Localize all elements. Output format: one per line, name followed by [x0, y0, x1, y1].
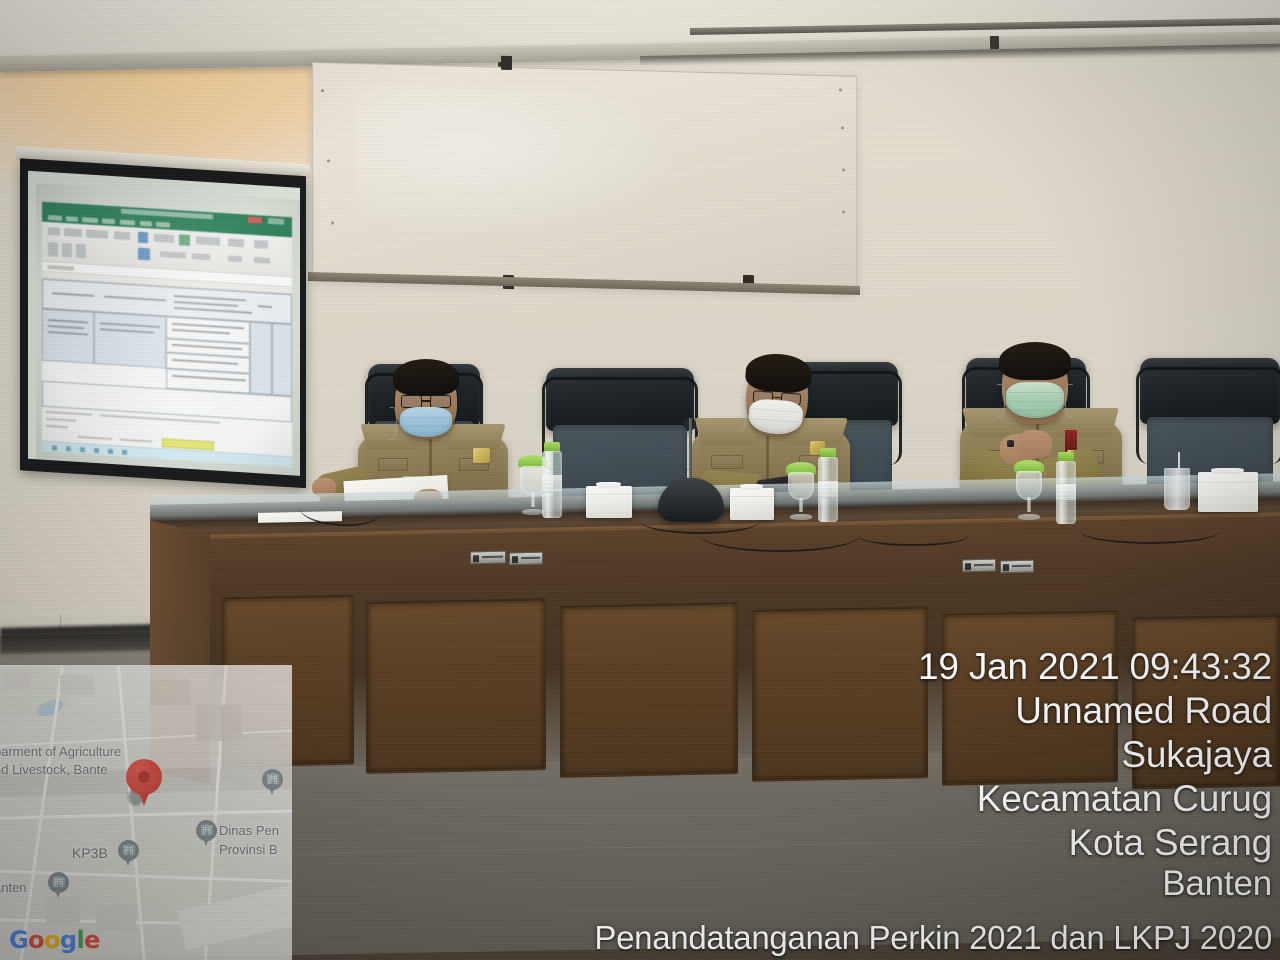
- whiteboard-screw: [321, 89, 324, 92]
- desk-nameplate: [509, 552, 543, 566]
- spreadsheet-window: [42, 202, 292, 468]
- whiteboard-screw: [327, 159, 330, 162]
- map-location-marker[interactable]: [126, 759, 162, 807]
- conference-microphone[interactable]: [658, 418, 724, 522]
- water-bottle: [1056, 452, 1076, 524]
- bank-icon: 🏢: [48, 872, 69, 899]
- whiteboard-screw: [842, 168, 845, 171]
- ring: [1007, 440, 1014, 447]
- map-overlay[interactable]: parment of Agriculture nd Livestock, Ban…: [0, 665, 292, 960]
- table-panel: [560, 602, 738, 778]
- person-left-head: [395, 365, 457, 439]
- whiteboard-clip: [501, 56, 512, 70]
- cable: [700, 518, 860, 552]
- map-block: [60, 675, 94, 695]
- mask-earloop: [1065, 384, 1073, 417]
- bank-icon: 🏢: [196, 820, 217, 847]
- map-block: [96, 905, 136, 931]
- projection-screen: [16, 146, 310, 494]
- mask-earloop: [997, 384, 1005, 417]
- gps-timestamp: 19 Jan 2021 09:43:32: [918, 648, 1272, 685]
- google-logo-letter: l: [76, 926, 84, 954]
- gps-address-line-2: Sukajaya: [1121, 736, 1272, 773]
- google-logo-letter: g: [60, 926, 77, 954]
- map-block: [46, 897, 80, 925]
- map-road: [0, 809, 292, 820]
- drinking-glass-with-cover: [1014, 460, 1044, 520]
- google-logo-letter: G: [9, 926, 28, 954]
- cable: [1080, 518, 1220, 544]
- desk-nameplate: [962, 559, 996, 573]
- gps-address-line-3: Kecamatan Curug: [977, 780, 1272, 817]
- rail-clip: [990, 36, 999, 49]
- desk-nameplate: [470, 551, 506, 565]
- map-block: [4, 671, 30, 689]
- whiteboard-screw: [839, 88, 842, 91]
- whiteboard: [312, 62, 857, 294]
- whiteboard-screw: [331, 221, 334, 224]
- screen-canvas: [28, 171, 300, 476]
- spreadsheet-grid: [42, 279, 292, 423]
- google-logo-letter: e: [84, 926, 100, 954]
- water-bottle: [818, 448, 838, 522]
- google-logo: Google: [9, 928, 100, 952]
- drinking-straw: [1178, 452, 1180, 474]
- gps-camera-photo: 19 Jan 2021 09:43:32 Unnamed Road Sukaja…: [0, 0, 1280, 960]
- bank-icon: 🏢: [118, 840, 139, 867]
- map-label-banten: anten: [0, 880, 27, 895]
- map-label-dinas-2: Provinsi B: [219, 842, 278, 857]
- table-panel: [366, 598, 546, 774]
- person-right-head: [1002, 348, 1068, 424]
- google-logo-letter: o: [28, 926, 44, 954]
- tissue-box: [586, 486, 632, 518]
- map-label-kp3b: KP3B: [72, 845, 108, 861]
- map-label-agriculture-1: parment of Agriculture: [0, 744, 121, 759]
- table-panel: [752, 606, 928, 782]
- gps-caption: Penandatanganan Perkin 2021 dan LKPJ 202…: [594, 921, 1272, 954]
- cable: [858, 526, 968, 546]
- map-block: [150, 679, 190, 705]
- google-logo-letter: o: [44, 926, 60, 954]
- water-bottle: [542, 442, 562, 518]
- face-mask: [1006, 382, 1064, 418]
- whiteboard-screw: [842, 210, 845, 213]
- plastic-cup: [1164, 468, 1190, 510]
- bank-icon: 🏢: [262, 769, 283, 796]
- uniform-badge: [473, 448, 490, 463]
- map-label-agriculture-2: nd Livestock, Bante: [0, 762, 107, 777]
- gps-address-line-4: Kota Serang: [1068, 824, 1272, 861]
- desk-nameplate: [1000, 560, 1034, 574]
- gps-address-line-1: Unnamed Road: [1015, 692, 1272, 729]
- whiteboard-sheen: [356, 86, 682, 245]
- map-label-dinas-1: Dinas Pen: [219, 823, 279, 838]
- face-mask: [400, 407, 452, 437]
- screen-border: [20, 158, 306, 488]
- whiteboard-screw: [841, 126, 844, 129]
- tissue-box: [1198, 472, 1258, 512]
- map-block: [196, 705, 242, 741]
- gps-address-line-5: Banten: [1162, 866, 1272, 901]
- drinking-glass-with-cover: [786, 462, 816, 520]
